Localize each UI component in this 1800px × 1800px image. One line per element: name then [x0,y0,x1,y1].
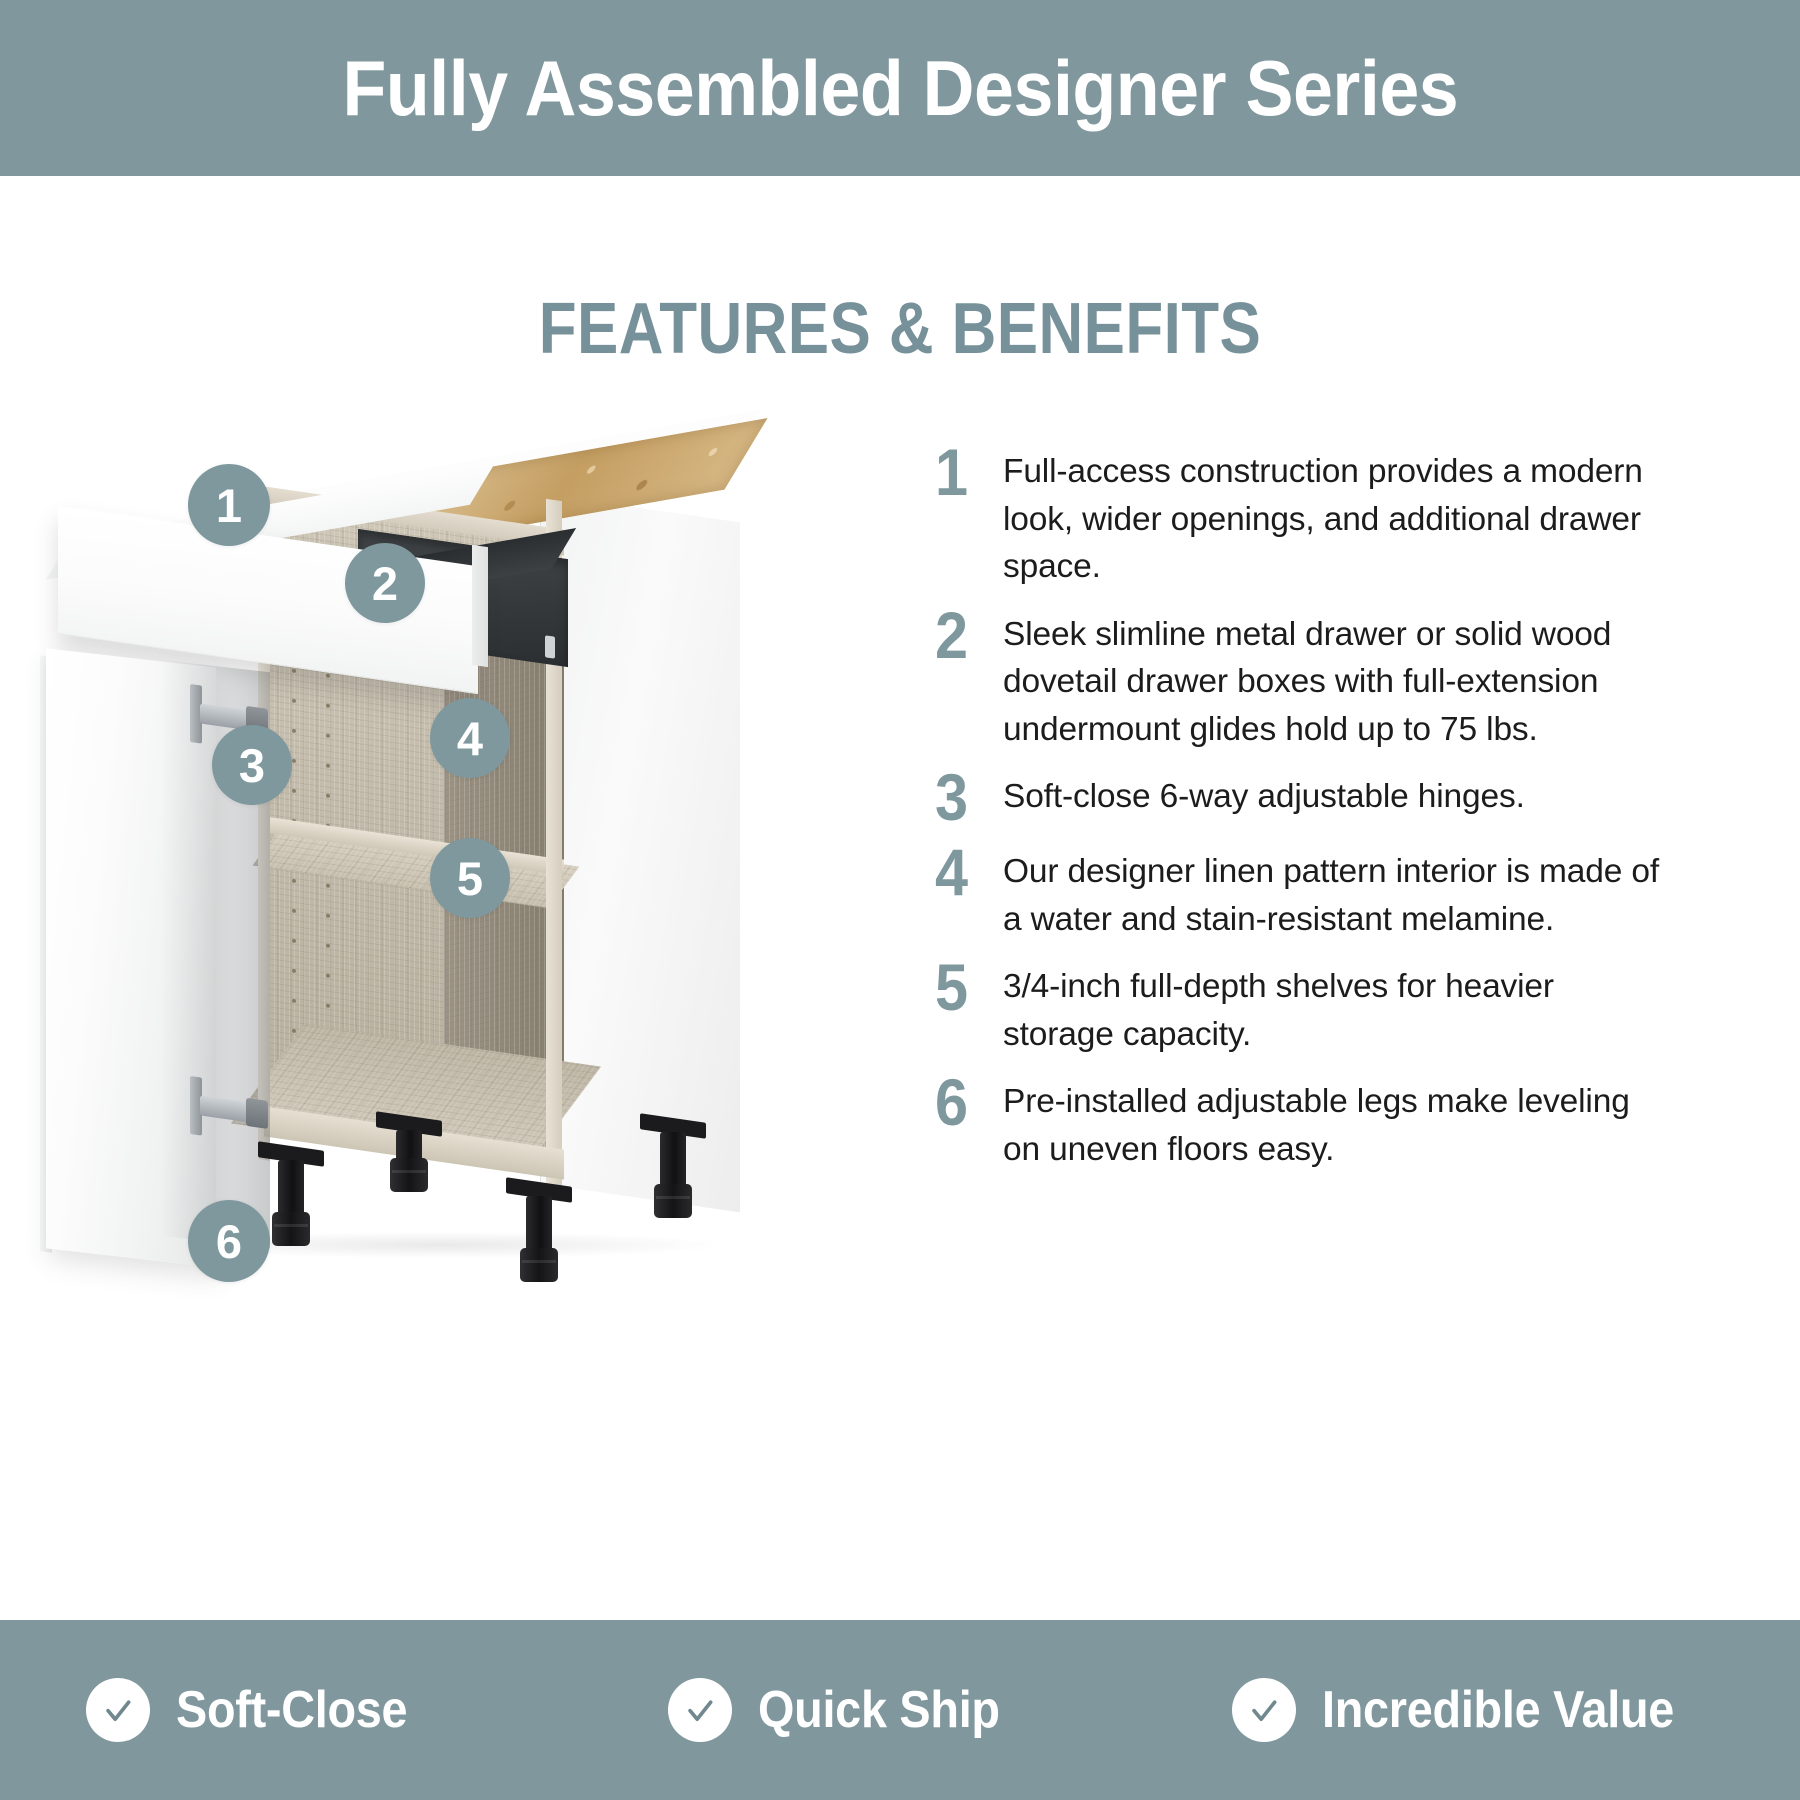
callout-badge-6[interactable]: 6 [188,1200,270,1282]
footer-label-quick-ship: Quick Ship [758,1680,1000,1740]
leg-foot [272,1212,310,1246]
leg-foot [520,1248,558,1282]
product-illustration: 1 2 3 4 5 6 [40,440,800,1340]
callout-badge-3[interactable]: 3 [212,725,292,805]
feature-text-4: Our designer linen pattern interior is m… [1003,848,1665,943]
page-title: Fully Assembled Designer Series [342,43,1458,134]
footer-badge-soft-close: Soft-Close [86,1678,433,1742]
footer-label-soft-close: Soft-Close [176,1680,407,1740]
drawer-front-side-edge [472,545,488,667]
callout-badge-4[interactable]: 4 [430,698,510,778]
header-bar: Fully Assembled Designer Series [0,0,1800,176]
hinge-cup [246,1098,268,1129]
leg-post [660,1132,686,1190]
feature-item-2: 2 Sleek slimline metal drawer or solid w… [935,611,1665,754]
feature-item-5: 5 3/4-inch full-depth shelves for heavie… [935,963,1665,1058]
feature-item-4: 4 Our designer linen pattern interior is… [935,848,1665,943]
feature-number-4: 4 [935,842,996,903]
footer-label-incredible-value: Incredible Value [1322,1680,1674,1740]
footer-badge-incredible-value: Incredible Value [1232,1678,1713,1742]
feature-number-2: 2 [935,605,996,666]
feature-item-6: 6 Pre-installed adjustable legs make lev… [935,1078,1665,1173]
leg-foot [654,1184,692,1218]
main-content: 1 2 3 4 5 6 1 Full-access construction p… [0,420,1800,1560]
leg-foot [390,1158,428,1192]
feature-text-1: Full-access construction provides a mode… [1003,448,1665,591]
undermount-glide [545,635,555,658]
callout-badge-2[interactable]: 2 [345,543,425,623]
footer-badge-quick-ship: Quick Ship [668,1678,1027,1742]
leg-post [278,1160,304,1218]
feature-number-6: 6 [935,1072,996,1133]
feature-text-3: Soft-close 6-way adjustable hinges. [1003,773,1665,821]
feature-number-5: 5 [935,957,996,1018]
feature-text-6: Pre-installed adjustable legs make level… [1003,1078,1665,1173]
feature-text-2: Sleek slimline metal drawer or solid woo… [1003,611,1665,754]
section-heading: FEATURES & BENEFITS [126,288,1674,370]
feature-number-3: 3 [935,767,996,828]
check-circle-icon [86,1678,150,1742]
feature-text-5: 3/4-inch full-depth shelves for heavier … [1003,963,1665,1058]
feature-item-1: 1 Full-access construction provides a mo… [935,448,1665,591]
callout-badge-5[interactable]: 5 [430,838,510,918]
leg-post [526,1196,552,1254]
check-circle-icon [668,1678,732,1742]
features-list: 1 Full-access construction provides a mo… [935,448,1665,1193]
callout-badge-1[interactable]: 1 [188,464,270,546]
footer-bar: Soft-Close Quick Ship Incredible Value [0,1620,1800,1800]
feature-item-3: 3 Soft-close 6-way adjustable hinges. [935,773,1665,828]
check-circle-icon [1232,1678,1296,1742]
feature-number-1: 1 [935,442,996,503]
